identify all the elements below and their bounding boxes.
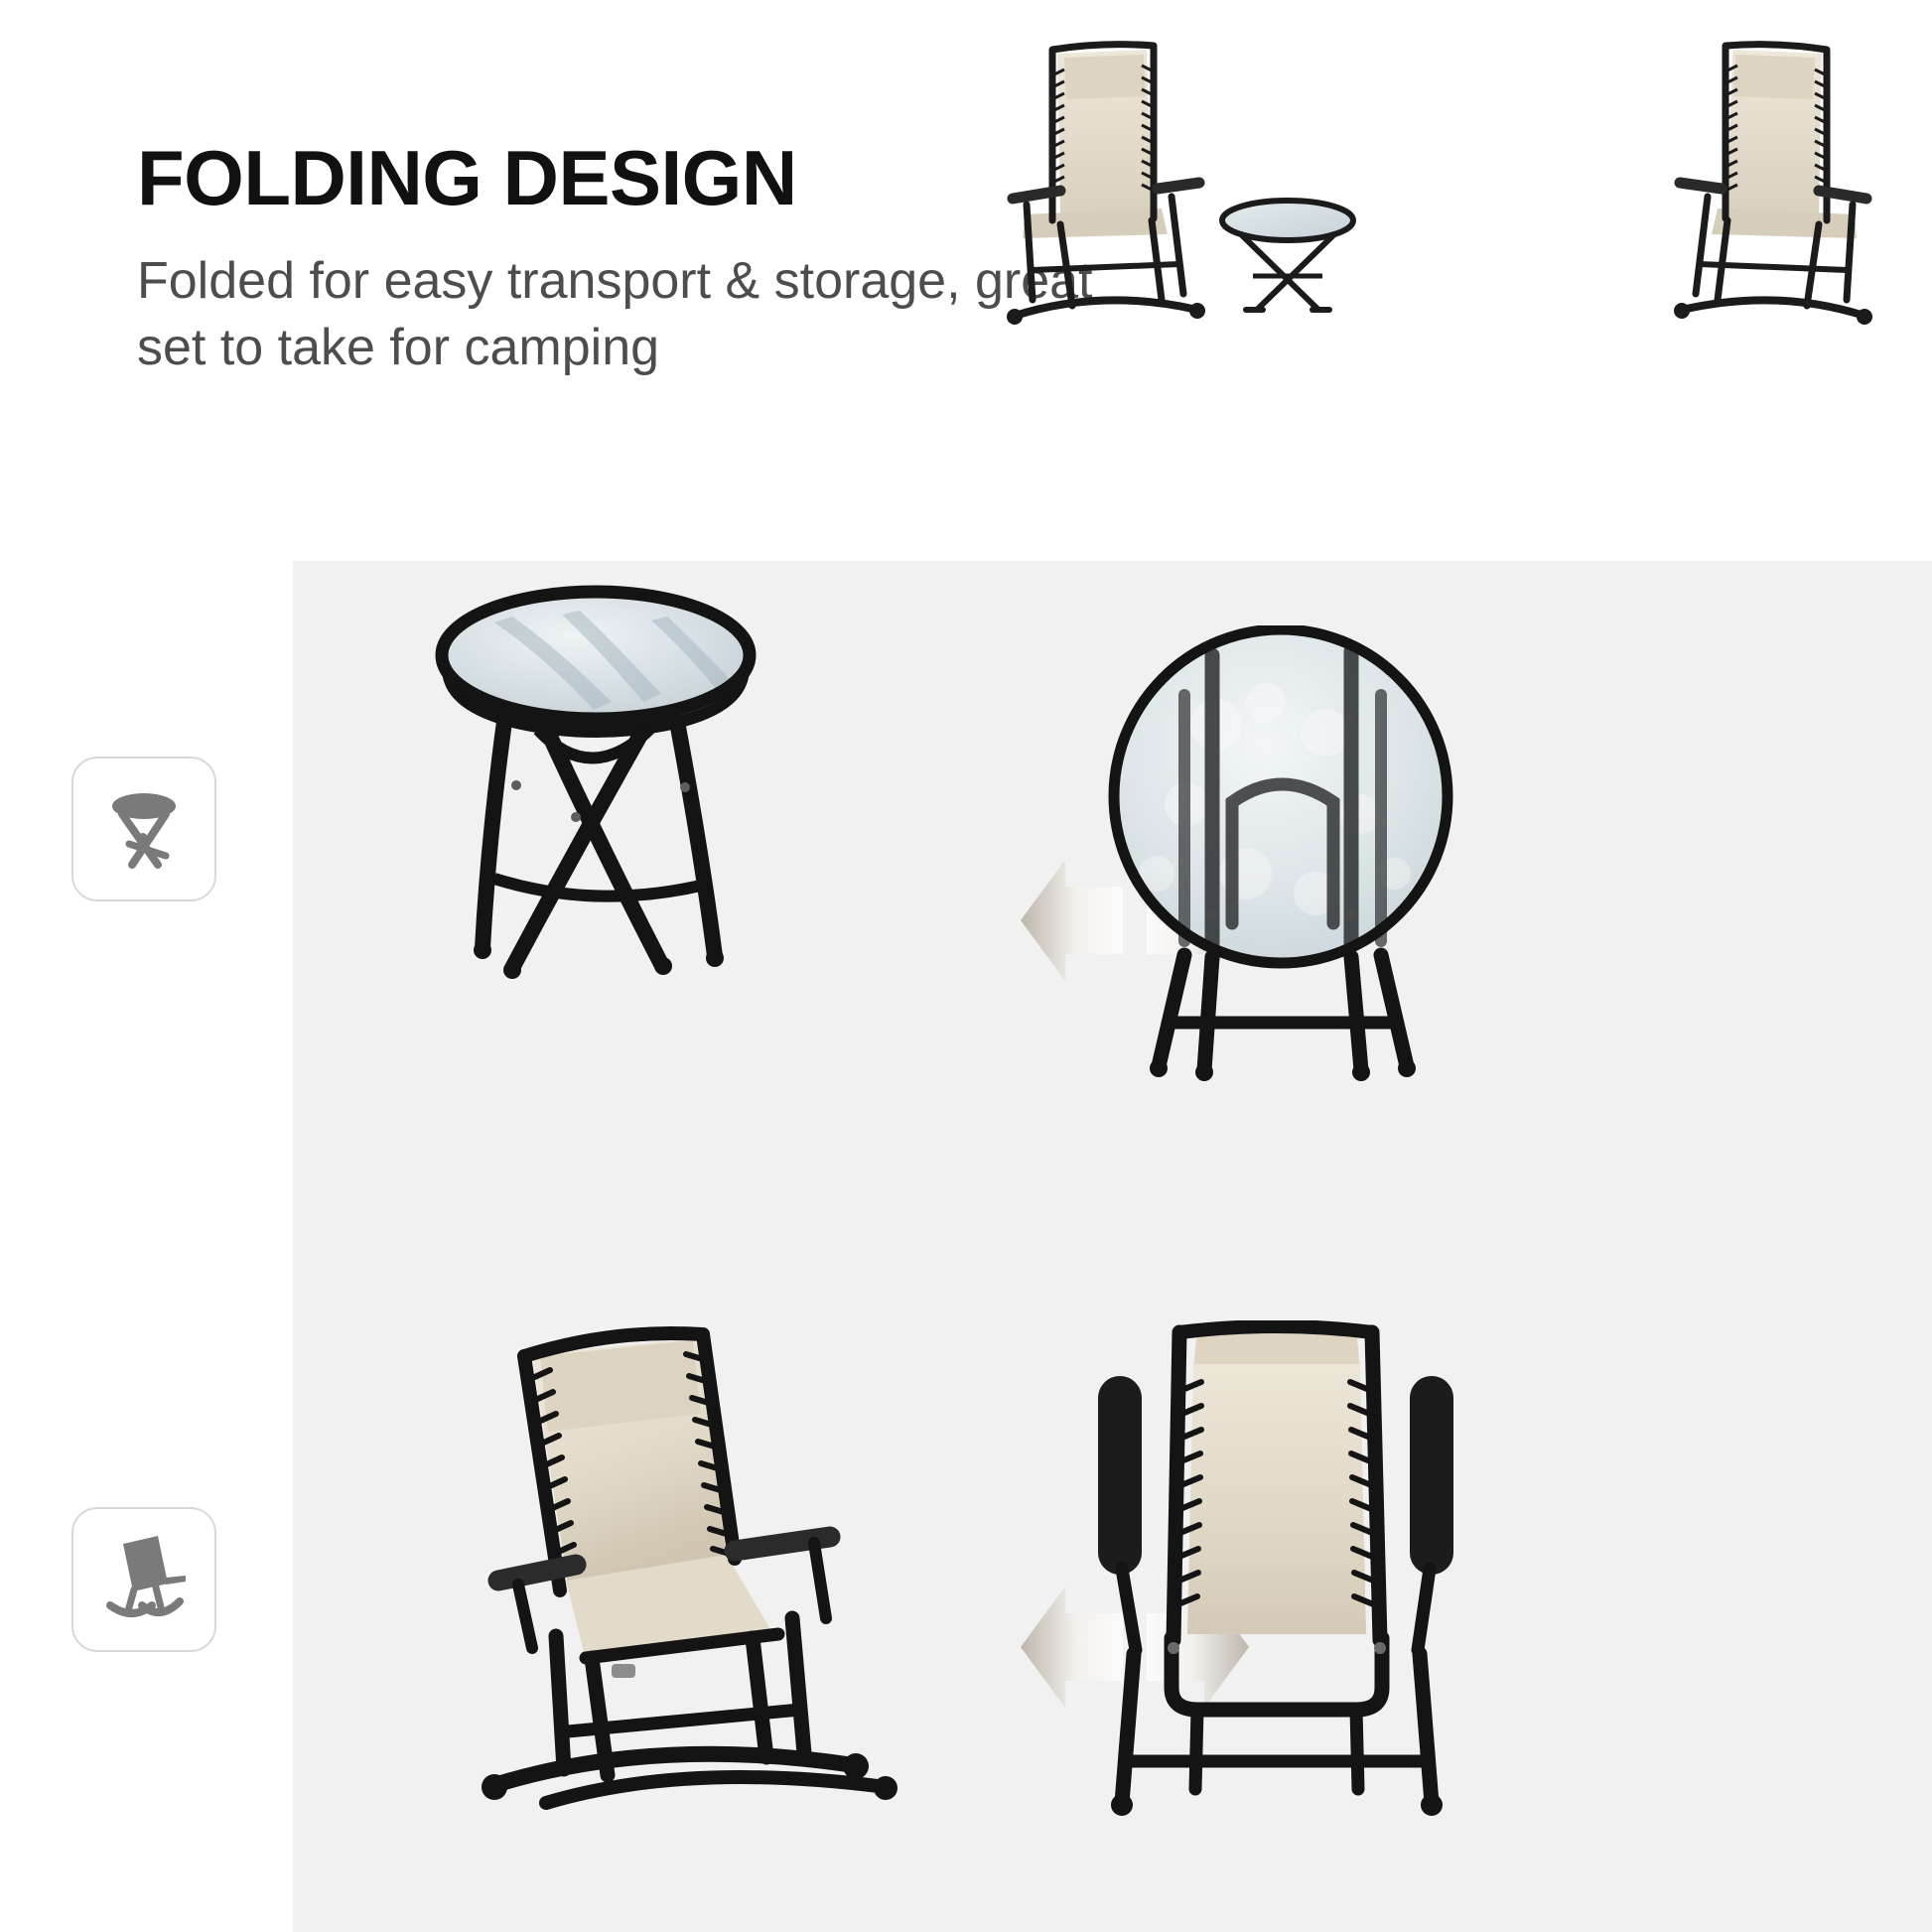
badge-rocking-chair xyxy=(71,1507,216,1652)
page-title: FOLDING DESIGN xyxy=(137,139,1130,218)
hero-product-image xyxy=(1003,40,1876,387)
chair-unfolded-illustration xyxy=(437,1320,953,1817)
table-unfolded-illustration xyxy=(417,551,884,1037)
photo-chair-unfolded xyxy=(437,1320,953,1817)
folding-stool-icon xyxy=(96,781,192,877)
hero-chair-right xyxy=(1674,45,1872,325)
photo-table-folded xyxy=(1018,625,1544,1092)
photo-table-unfolded xyxy=(417,551,884,1037)
header-block: FOLDING DESIGN Folded for easy transport… xyxy=(137,139,1130,382)
badge-folding-table xyxy=(71,757,216,901)
rocking-chair-icon xyxy=(96,1532,192,1627)
page-subtitle: Folded for easy transport & storage, gre… xyxy=(137,248,1130,382)
chair-folded-illustration xyxy=(1013,1320,1539,1817)
table-folded-illustration xyxy=(1018,625,1544,1092)
hero-side-table xyxy=(1222,201,1353,310)
hero-scene xyxy=(1003,40,1876,387)
photo-chair-folded xyxy=(1013,1320,1539,1817)
hero-chair-left xyxy=(1007,45,1205,325)
